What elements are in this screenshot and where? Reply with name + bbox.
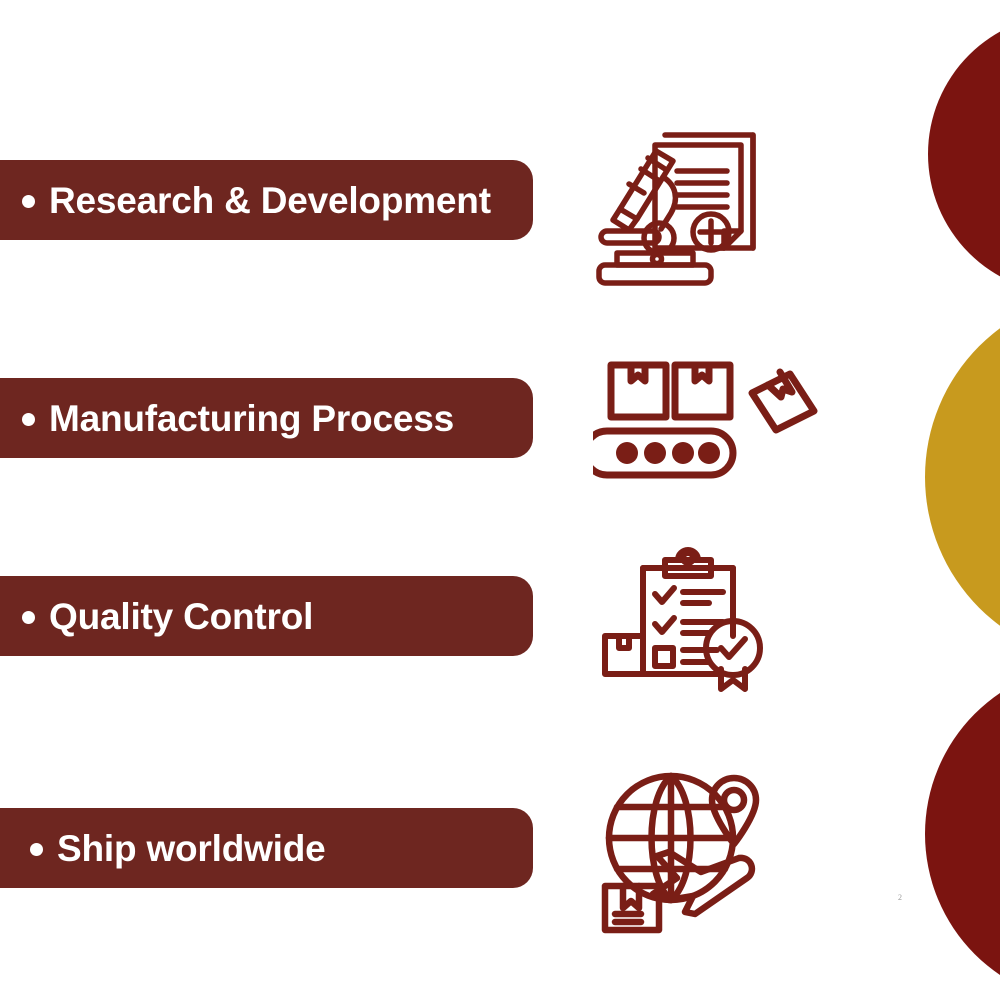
slide-canvas: Research & Development	[0, 0, 1000, 1000]
list-item[interactable]: Manufacturing Process	[0, 318, 800, 518]
step-bar-quality-control[interactable]: Quality Control	[0, 576, 533, 656]
step-bar-ship-worldwide[interactable]: Ship worldwide	[0, 808, 533, 888]
bullet-icon	[22, 611, 35, 624]
list-item[interactable]: Research & Development	[0, 100, 800, 300]
list-item[interactable]: Ship worldwide	[0, 748, 800, 948]
step-bar-manufacturing-process[interactable]: Manufacturing Process	[0, 378, 533, 458]
list-item[interactable]: Quality Control	[0, 516, 800, 716]
conveyor-belt-boxes-icon	[593, 323, 823, 513]
step-label: Quality Control	[49, 598, 313, 635]
step-label: Manufacturing Process	[49, 400, 454, 437]
globe-airplane-package-icon	[593, 753, 823, 943]
clipboard-checklist-badge-icon	[593, 521, 823, 711]
bullet-icon	[30, 843, 43, 856]
microscope-document-icon	[593, 105, 823, 295]
step-label: Ship worldwide	[57, 830, 326, 867]
bullet-icon	[22, 195, 35, 208]
step-label: Research & Development	[49, 182, 491, 219]
step-bar-research-and-development[interactable]: Research & Development	[0, 160, 533, 240]
process-step-list: Research & Development	[0, 0, 1000, 1000]
bullet-icon	[22, 413, 35, 426]
page-number: 2	[898, 893, 902, 902]
